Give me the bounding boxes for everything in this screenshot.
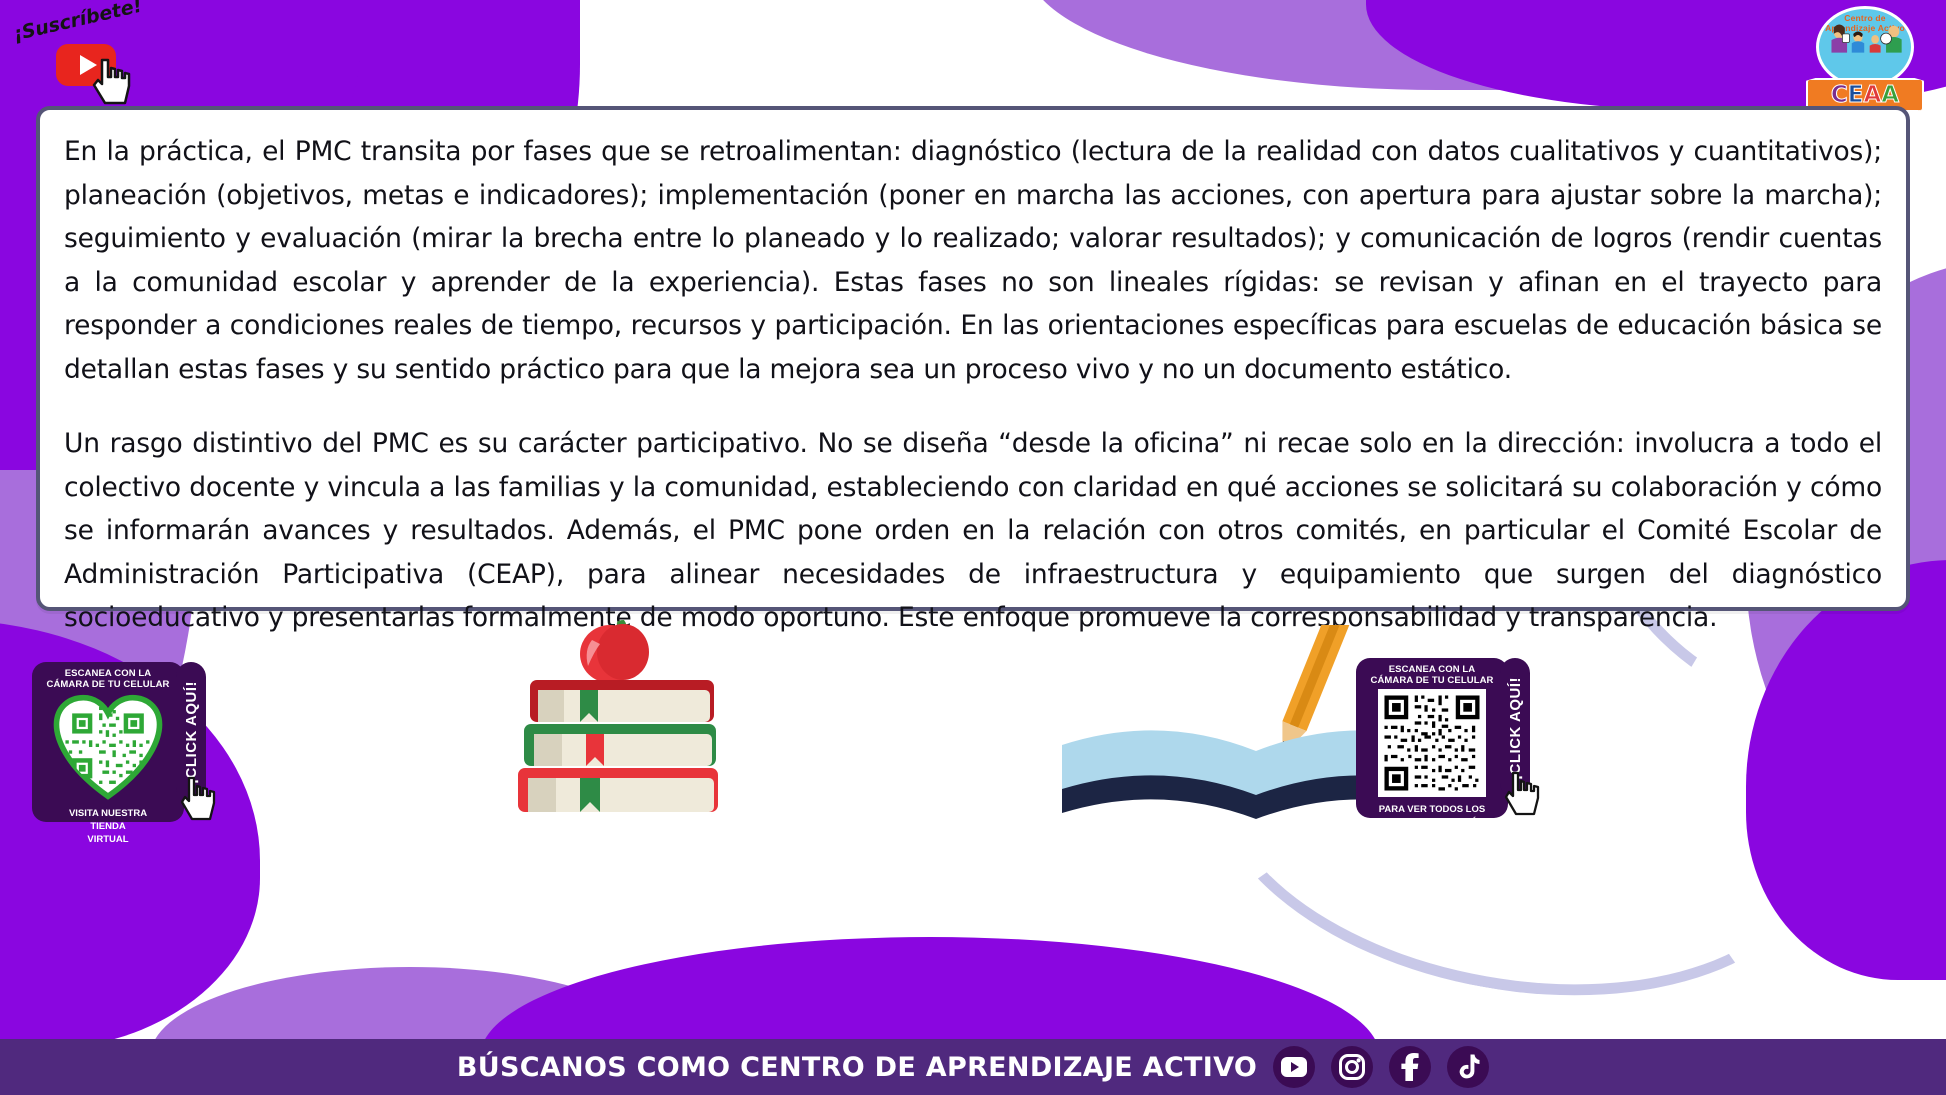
- footer-text: BÚSCANOS COMO CENTRO DE APRENDIZAJE ACTI…: [457, 1052, 1257, 1083]
- qr-right-bottom-line2: VIDEOS DE LA SESIÓN: [1362, 817, 1502, 828]
- heart-qr-code[interactable]: [52, 693, 164, 801]
- instagram-icon[interactable]: [1331, 1046, 1373, 1088]
- qr-left-bottom-line2: TIENDA: [38, 821, 178, 832]
- ceaa-logo: Centro de Aprendizaje Activo C E A A: [1806, 6, 1924, 116]
- paragraph-1: En la práctica, el PMC transita por fase…: [64, 130, 1882, 391]
- qr-left-bottom-line3: VIRTUAL: [38, 834, 178, 845]
- stacked-books-with-apple-illustration: [508, 618, 738, 833]
- pointer-hand-icon-store: [180, 775, 220, 823]
- qr-panel-store[interactable]: ESCANEA CON LA CÁMARA DE TU CELULAR: [32, 662, 184, 822]
- logo-letter-e: E: [1848, 84, 1864, 107]
- qr-right-top-line2: CÁMARA DE TU CELULAR: [1362, 675, 1502, 686]
- qr-panel-videos[interactable]: ESCANEA CON LA CÁMARA DE TU CELULAR: [1356, 658, 1508, 818]
- click-here-label-store: ¡CLICK AQUÍ!: [183, 681, 200, 784]
- click-here-label-videos: ¡CLICK AQUÍ!: [1507, 677, 1524, 780]
- family-illustration-icon: [1819, 17, 1911, 57]
- slide-root: ¡Suscríbete! Centro de Aprendizaje Activ…: [0, 0, 1946, 1095]
- facebook-icon[interactable]: [1389, 1046, 1431, 1088]
- qr-right-top-line1: ESCANEA CON LA: [1362, 664, 1502, 675]
- pointer-hand-icon-videos: [1504, 770, 1544, 818]
- qr-left-bottom-line1: VISITA NUESTRA: [38, 808, 178, 819]
- qr-left-top-line2: CÁMARA DE TU CELULAR: [38, 679, 178, 690]
- qr-left-top-line1: ESCANEA CON LA: [38, 668, 178, 679]
- tiktok-icon[interactable]: [1447, 1046, 1489, 1088]
- logo-letter-c: C: [1831, 84, 1848, 107]
- subscribe-label: ¡Suscríbete!: [11, 0, 144, 46]
- logo-circle: Centro de Aprendizaje Activo: [1816, 6, 1914, 88]
- qr-right-bottom-line1: PARA VER TODOS LOS: [1362, 804, 1502, 815]
- logo-letter-a2: A: [1881, 84, 1899, 107]
- subscribe-badge[interactable]: ¡Suscríbete!: [6, 4, 166, 110]
- footer-bar: BÚSCANOS COMO CENTRO DE APRENDIZAJE ACTI…: [0, 1039, 1946, 1095]
- main-text-card: En la práctica, el PMC transita por fase…: [36, 106, 1910, 611]
- youtube-icon[interactable]: [1273, 1046, 1315, 1088]
- square-qr-code[interactable]: [1376, 689, 1488, 797]
- pointer-hand-icon: [92, 56, 136, 108]
- logo-letter-a1: A: [1863, 84, 1881, 107]
- paragraph-2: Un rasgo distintivo del PMC es su caráct…: [64, 422, 1882, 640]
